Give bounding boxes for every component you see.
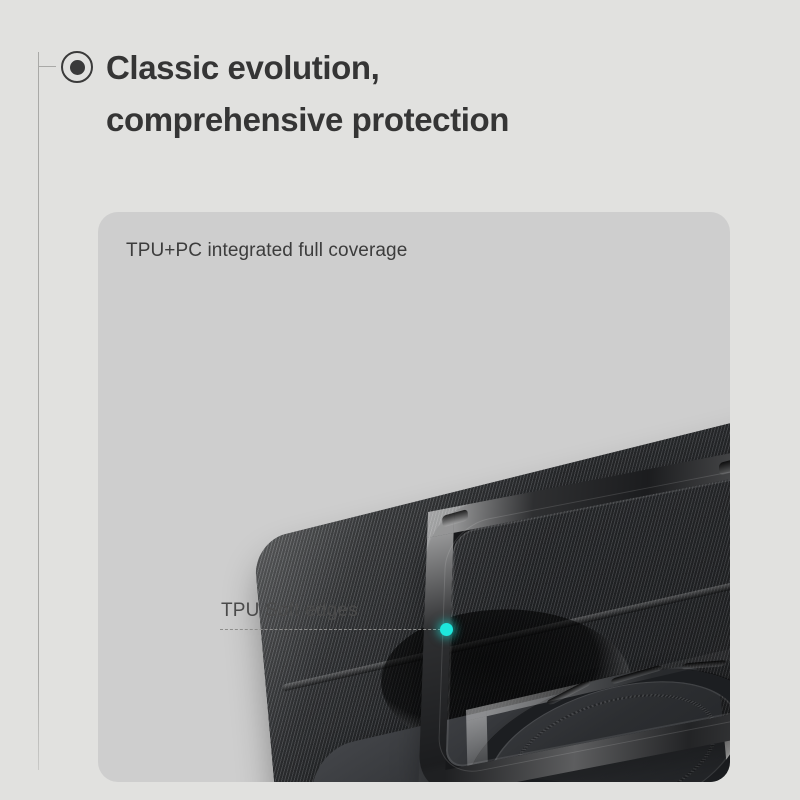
tpu-bumper-frame: [418, 430, 730, 782]
product-image-stage: [98, 212, 730, 782]
bullet-connector-tick: [39, 66, 56, 67]
target-dot-icon: [61, 51, 93, 83]
page-title: Classic evolution, comprehensive protect…: [106, 42, 706, 146]
product-card: TPU+PC integrated full coverage: [98, 212, 730, 782]
page-title-line-2: comprehensive protection: [106, 94, 706, 146]
left-vertical-rule: [38, 52, 39, 770]
tpu-frame-inner-edge: [437, 452, 730, 779]
callout-endpoint-dot: [440, 623, 453, 636]
tpu-frame-gloss: [418, 430, 730, 782]
callout-label-tpu-soft-edges: TPU Soft edges: [221, 600, 358, 622]
product-feature-page: Classic evolution, comprehensive protect…: [0, 0, 800, 800]
page-title-line-1: Classic evolution,: [106, 49, 379, 86]
tpu-button-cutout: [719, 455, 730, 475]
callout-leader-line: [220, 629, 446, 630]
